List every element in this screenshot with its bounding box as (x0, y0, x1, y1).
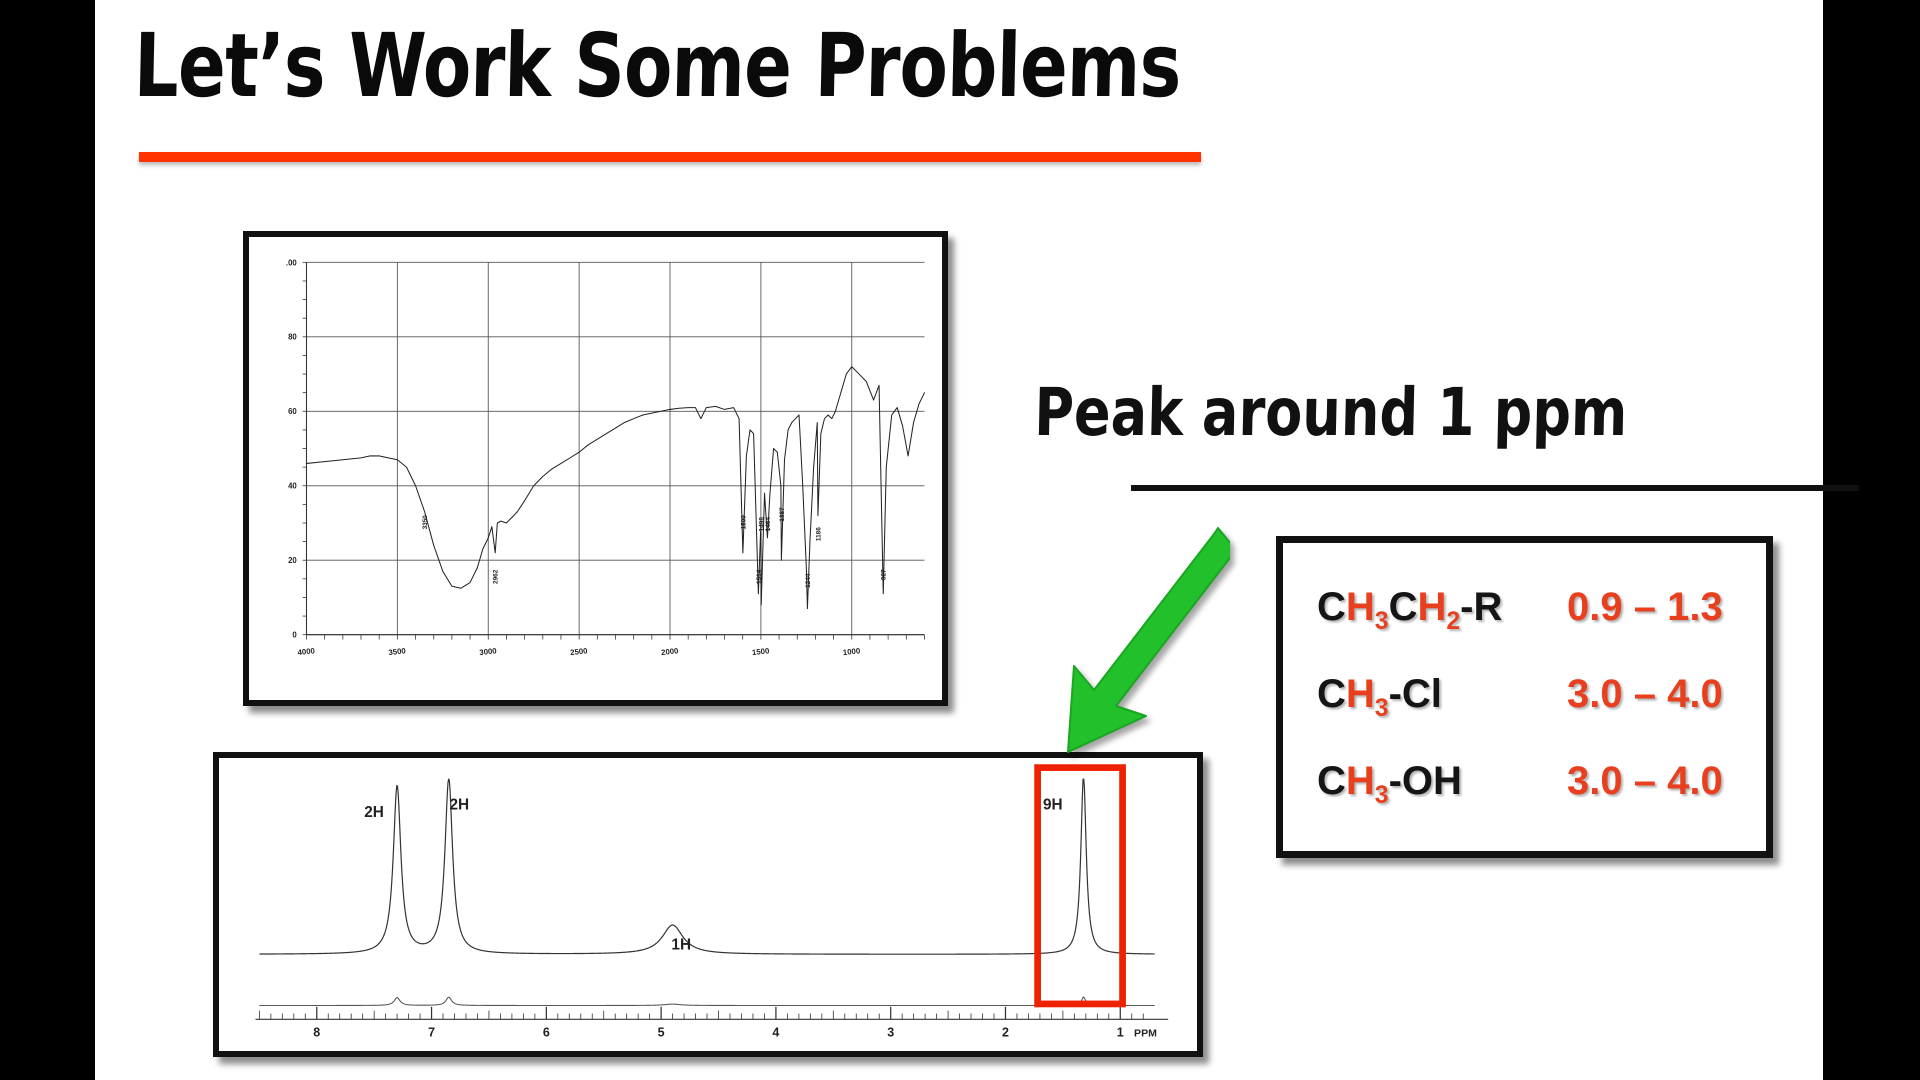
svg-text:2000: 2000 (661, 646, 680, 657)
svg-text:1514: 1514 (756, 569, 763, 584)
formula-part-red: H (1346, 759, 1375, 803)
page-title: Let’s Work Some Problems (133, 20, 1175, 112)
formula-part: C (1317, 585, 1346, 629)
green-arrow-icon (1050, 520, 1230, 760)
slide-canvas: Let’s Work Some Problems Peak around 1 p… (0, 0, 1920, 1080)
svg-text:1464: 1464 (765, 517, 772, 532)
table-row: CH3-Cl 3.0 – 4.0 (1317, 672, 1732, 723)
svg-text:4000: 4000 (297, 646, 316, 657)
svg-text:40: 40 (288, 482, 297, 491)
svg-text:8: 8 (313, 1026, 320, 1040)
svg-text:1186: 1186 (815, 527, 822, 541)
table-row: CH3-OH 3.0 – 4.0 (1317, 759, 1732, 810)
svg-text:1: 1 (1117, 1026, 1124, 1040)
formula-part: -Cl (1389, 672, 1442, 716)
svg-text:1H: 1H (671, 937, 691, 954)
subheading-underline (1131, 485, 1859, 491)
svg-text:1000: 1000 (842, 646, 861, 657)
svg-text:2962: 2962 (493, 569, 500, 584)
formula-part: -R (1460, 585, 1502, 629)
slide-stage: Let’s Work Some Problems Peak around 1 p… (95, 0, 1823, 1080)
svg-text:6: 6 (543, 1026, 550, 1040)
svg-text:827: 827 (881, 569, 888, 580)
formula-sub: 3 (1375, 608, 1389, 635)
svg-text:0: 0 (292, 631, 297, 640)
chemical-shift-table: CH3CH2-R 0.9 – 1.3 CH3-Cl 3.0 – 4.0 CH3-… (1276, 536, 1773, 858)
formula-cell: CH3CH2-R (1317, 585, 1567, 636)
svg-text:3000: 3000 (479, 646, 498, 657)
shift-range-cell: 3.0 – 4.0 (1567, 759, 1723, 804)
formula-cell: CH3-OH (1317, 759, 1567, 810)
svg-text:9H: 9H (1043, 797, 1063, 814)
svg-text:1500: 1500 (752, 646, 771, 657)
nmr-integration-label: 2H (364, 804, 384, 821)
formula-sub: 2 (1446, 608, 1460, 635)
shift-table-body: CH3CH2-R 0.9 – 1.3 CH3-Cl 3.0 – 4.0 CH3-… (1283, 543, 1766, 851)
table-row: CH3CH2-R 0.9 – 1.3 (1317, 585, 1732, 636)
formula-part: C (1317, 759, 1346, 803)
formula-part-red: H (1417, 585, 1446, 629)
nmr-spectrum-panel: 87654321PPM2H2H1H9H (213, 752, 1203, 1057)
svg-text:2H: 2H (450, 796, 470, 813)
svg-text:1244: 1244 (805, 573, 812, 588)
nmr-integration-label: 1H (671, 937, 691, 954)
nmr-integration-label: 9H (1043, 797, 1063, 814)
formula-part-red: H (1346, 672, 1375, 716)
svg-text:3500: 3500 (388, 646, 407, 657)
subheading: Peak around 1 ppm (1034, 380, 1659, 446)
formula-part: C (1317, 672, 1346, 716)
formula-part: -OH (1389, 759, 1462, 803)
svg-text:3350: 3350 (422, 515, 429, 530)
title-underline (139, 152, 1201, 162)
svg-text:PPM: PPM (1134, 1028, 1157, 1040)
shift-range-cell: 0.9 – 1.3 (1567, 585, 1723, 630)
svg-text:7: 7 (428, 1026, 435, 1040)
shift-range-cell: 3.0 – 4.0 (1567, 672, 1723, 717)
svg-text:60: 60 (288, 407, 297, 416)
svg-text:1387: 1387 (779, 507, 786, 522)
formula-sub: 3 (1375, 695, 1389, 722)
formula-cell: CH3-Cl (1317, 672, 1567, 723)
svg-text:2H: 2H (364, 804, 384, 821)
formula-sub: 3 (1375, 782, 1389, 809)
nmr-integration-label: 2H (450, 796, 470, 813)
formula-part-red: H (1346, 585, 1375, 629)
ir-spectrum-chart: 020406080.004000350030002500200015001000… (249, 237, 942, 700)
svg-text:20: 20 (288, 556, 297, 565)
formula-part: C (1389, 585, 1418, 629)
ir-spectrum-panel: 020406080.004000350030002500200015001000… (243, 231, 948, 706)
svg-text:2500: 2500 (570, 646, 589, 657)
h-nmr-spectrum-chart: 87654321PPM2H2H1H9H (219, 758, 1197, 1051)
svg-text:4: 4 (772, 1026, 779, 1040)
svg-text:.00: .00 (286, 258, 297, 267)
svg-text:3: 3 (887, 1026, 894, 1040)
svg-text:2: 2 (1002, 1026, 1009, 1040)
svg-text:5: 5 (658, 1026, 665, 1040)
svg-text:80: 80 (288, 333, 297, 342)
svg-text:1599: 1599 (740, 515, 747, 530)
